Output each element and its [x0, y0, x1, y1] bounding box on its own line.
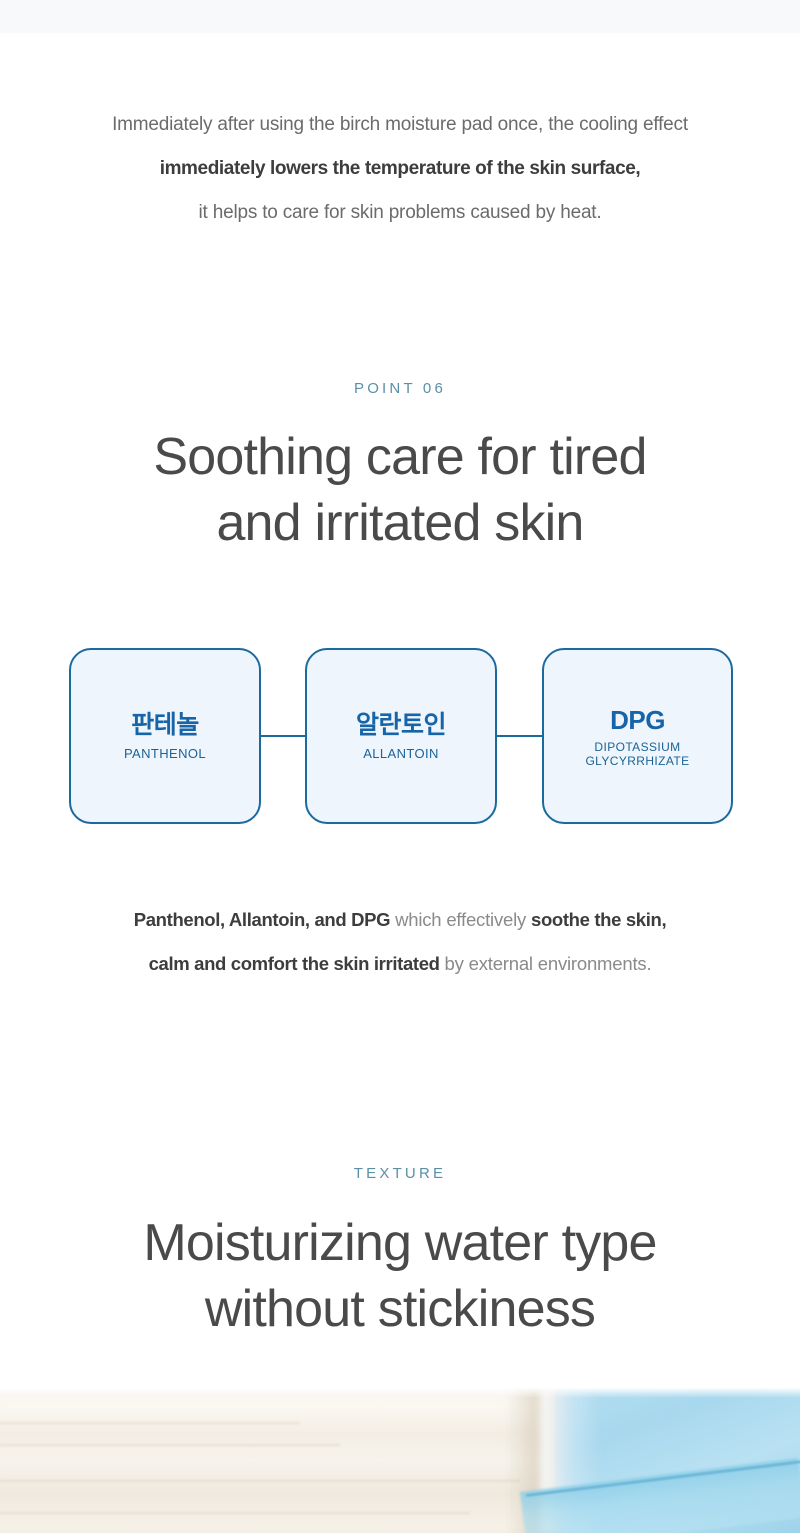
point-body-line-1-regular: which effectively	[390, 909, 531, 930]
point-heading-line-2: and irritated skin	[0, 490, 800, 556]
point-heading-line-1: Soothing care for tired	[0, 424, 800, 490]
ingredient-card-panthenol: 판테놀 PANTHENOL	[69, 648, 261, 824]
point-eyebrow-label: POINT 06	[0, 380, 800, 397]
texture-heading-line-1: Moisturizing water type	[0, 1210, 800, 1276]
point-body-line-2-regular: by external environments.	[440, 953, 652, 974]
texture-heading: Moisturizing water type without stickine…	[0, 1210, 800, 1342]
ingredient-name-kr: 알란토인	[356, 710, 446, 740]
intro-line-1: Immediately after using the birch moistu…	[0, 103, 800, 147]
ingredient-name-en: DIPOTASSIUM GLYCYRRHIZATE	[585, 740, 689, 768]
top-spacer-strip	[0, 0, 800, 33]
photo-jar-ridge	[0, 1480, 520, 1482]
point-body-line-1-bold-b: soothe the skin,	[531, 909, 666, 930]
point-heading: Soothing care for tired and irritated sk…	[0, 424, 800, 556]
point-body-line-1: Panthenol, Allantoin, and DPG which effe…	[0, 898, 800, 942]
intro-line-3: it helps to care for skin problems cause…	[0, 191, 800, 235]
intro-line-2: immediately lowers the temperature of th…	[0, 147, 800, 191]
ingredient-card-allantoin: 알란토인 ALLANTOIN	[305, 648, 497, 824]
connector-line-2	[494, 735, 542, 737]
connector-line-1	[257, 735, 305, 737]
point-body-paragraph: Panthenol, Allantoin, and DPG which effe…	[0, 898, 800, 986]
texture-eyebrow-label: TEXTURE	[0, 1165, 800, 1182]
ingredient-diagram: 판테놀 PANTHENOL 알란토인 ALLANTOIN DPG DIPOTAS…	[69, 648, 733, 824]
ingredient-name-kr: 판테놀	[131, 710, 199, 740]
photo-jar-ridge	[0, 1512, 470, 1514]
ingredient-card-dpg: DPG DIPOTASSIUM GLYCYRRHIZATE	[542, 648, 733, 824]
ingredient-name-en-line-2: GLYCYRRHIZATE	[585, 754, 689, 768]
point-body-line-2: calm and comfort the skin irritated by e…	[0, 942, 800, 986]
intro-paragraph: Immediately after using the birch moistu…	[0, 103, 800, 235]
ingredient-name-en: ALLANTOIN	[363, 746, 439, 762]
product-detail-page: Immediately after using the birch moistu…	[0, 0, 800, 1533]
product-photo	[0, 1388, 800, 1533]
ingredient-name-en-line-1: DIPOTASSIUM	[585, 740, 689, 754]
point-body-line-2-bold: calm and comfort the skin irritated	[149, 953, 440, 974]
point-body-line-1-bold-a: Panthenol, Allantoin, and DPG	[134, 909, 390, 930]
texture-heading-line-2: without stickiness	[0, 1276, 800, 1342]
ingredient-name-en: PANTHENOL	[124, 746, 206, 762]
photo-jar-ridge	[0, 1444, 340, 1446]
photo-jar-ridge	[0, 1422, 300, 1424]
photo-top-fade	[0, 1388, 800, 1398]
ingredient-name-kr: DPG	[610, 705, 665, 735]
